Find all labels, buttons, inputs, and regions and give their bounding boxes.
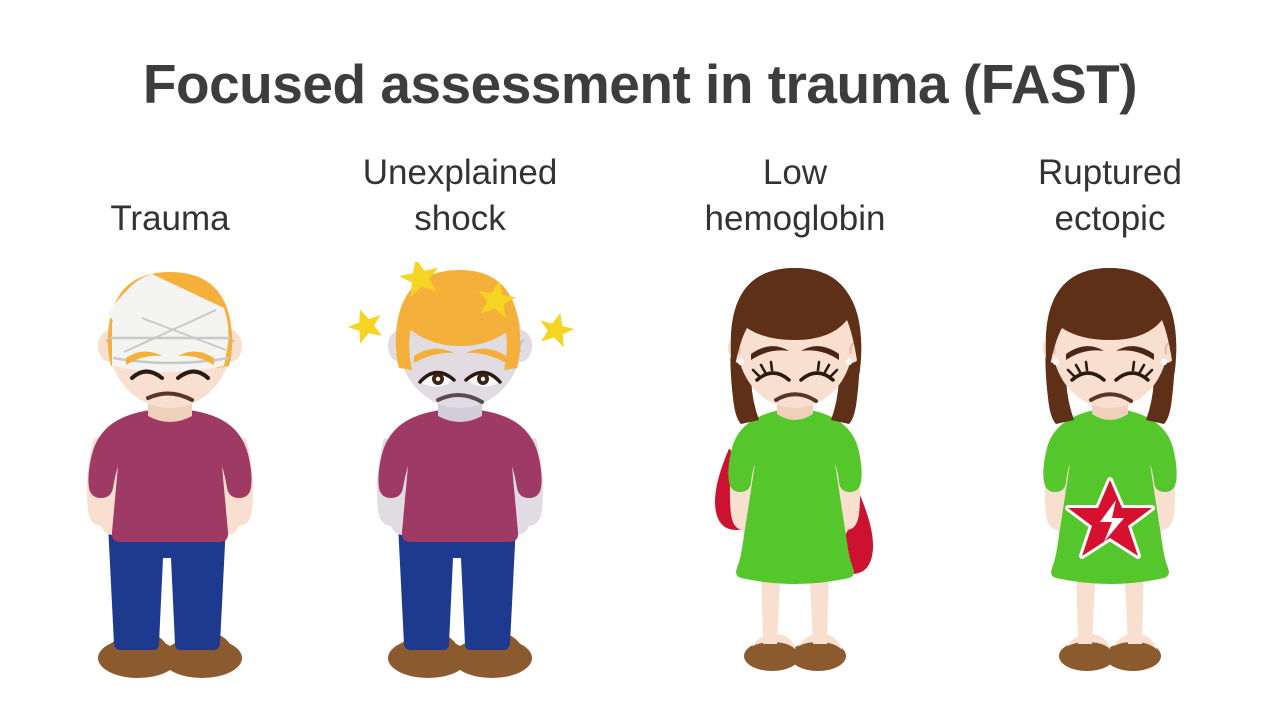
caption-line: shock (310, 196, 610, 242)
slide-canvas: Focused assessment in trauma (FAST) Trau… (0, 0, 1280, 720)
head (388, 270, 532, 408)
character-shock-boy (310, 262, 610, 682)
figure-caption-ruptured-ectopic: Ruptured ectopic (960, 150, 1260, 242)
earring-left (738, 359, 744, 365)
figure-unexplained-shock: Unexplained shock (310, 150, 610, 695)
shoes (744, 634, 846, 671)
shoes (1059, 634, 1161, 671)
character-ectopic-girl (960, 262, 1260, 682)
star-icon (535, 309, 577, 349)
figure-caption-trauma: Trauma (20, 196, 320, 242)
figure-caption-unexplained-shock: Unexplained shock (310, 150, 610, 242)
caption-line: Unexplained (310, 150, 610, 196)
caption-line: hemoglobin (645, 196, 945, 242)
head (98, 272, 242, 408)
character-hemoglobin-girl (645, 262, 945, 682)
figure-ruptured-ectopic: Ruptured ectopic (960, 150, 1260, 695)
figure-caption-low-hemoglobin: Low hemoglobin (645, 150, 945, 242)
character-trauma-boy (20, 262, 320, 682)
caption-line: Low (645, 150, 945, 196)
page-title: Focused assessment in trauma (FAST) (0, 52, 1280, 116)
figure-trauma: Trauma (20, 150, 320, 695)
earring-right (846, 359, 852, 365)
caption-line: Trauma (20, 196, 320, 242)
earring-right (1161, 359, 1167, 365)
caption-line: ectopic (960, 196, 1260, 242)
caption-line: Ruptured (960, 150, 1260, 196)
earring-left (1053, 359, 1059, 365)
figure-low-hemoglobin: Low hemoglobin (645, 150, 945, 695)
star-icon (344, 304, 388, 346)
